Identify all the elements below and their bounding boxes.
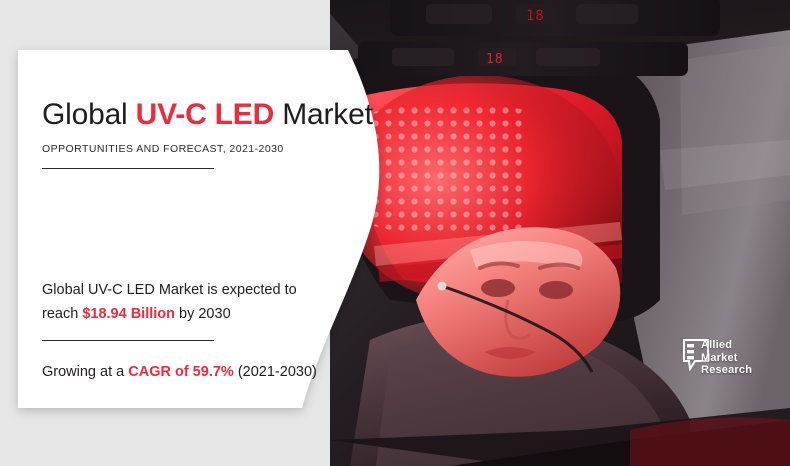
page-subtitle: OPPORTUNITIES AND FORECAST, 2021-2030 (42, 143, 284, 155)
divider-top (42, 168, 214, 169)
growth-statement: Growing at a CAGR of 59.7% (2021-2030) (42, 360, 362, 384)
allied-market-research-logo: Allied Market Research (683, 337, 775, 385)
market-value-statement: Global UV-C LED Market is expected to re… (42, 278, 352, 326)
logo-wordmark: Allied Market Research (701, 339, 752, 377)
svg-text:18: 18 (486, 52, 504, 67)
logo-line-3: Research (701, 364, 752, 377)
logo-line-1: Allied (701, 339, 752, 352)
growth-cagr: CAGR of 59.7% (128, 364, 234, 380)
market-value-line-2: reach $18.94 Billion by 2030 (42, 302, 352, 326)
svg-text:18: 18 (526, 8, 545, 24)
page-title: Global UV-C LED Market (42, 98, 373, 132)
title-suffix: Market (274, 98, 373, 131)
market-value-line-1: Global UV-C LED Market is expected to (42, 278, 352, 302)
market-value-prefix: reach (42, 306, 82, 322)
poster-root: 18 18 (0, 0, 790, 466)
market-value-figure: $18.94 Billion (82, 306, 175, 322)
growth-prefix: Growing at a (42, 364, 128, 380)
market-value-suffix: by 2030 (175, 306, 231, 322)
logo-line-2: Market (701, 352, 752, 365)
growth-period: (2021-2030) (234, 364, 317, 380)
title-prefix: Global (42, 98, 136, 131)
title-accent: UV-C LED (136, 98, 274, 131)
divider-middle (42, 340, 214, 341)
card-content: Global UV-C LED Market OPPORTUNITIES AND… (42, 50, 372, 408)
growth-line: Growing at a CAGR of 59.7% (2021-2030) (42, 360, 362, 384)
